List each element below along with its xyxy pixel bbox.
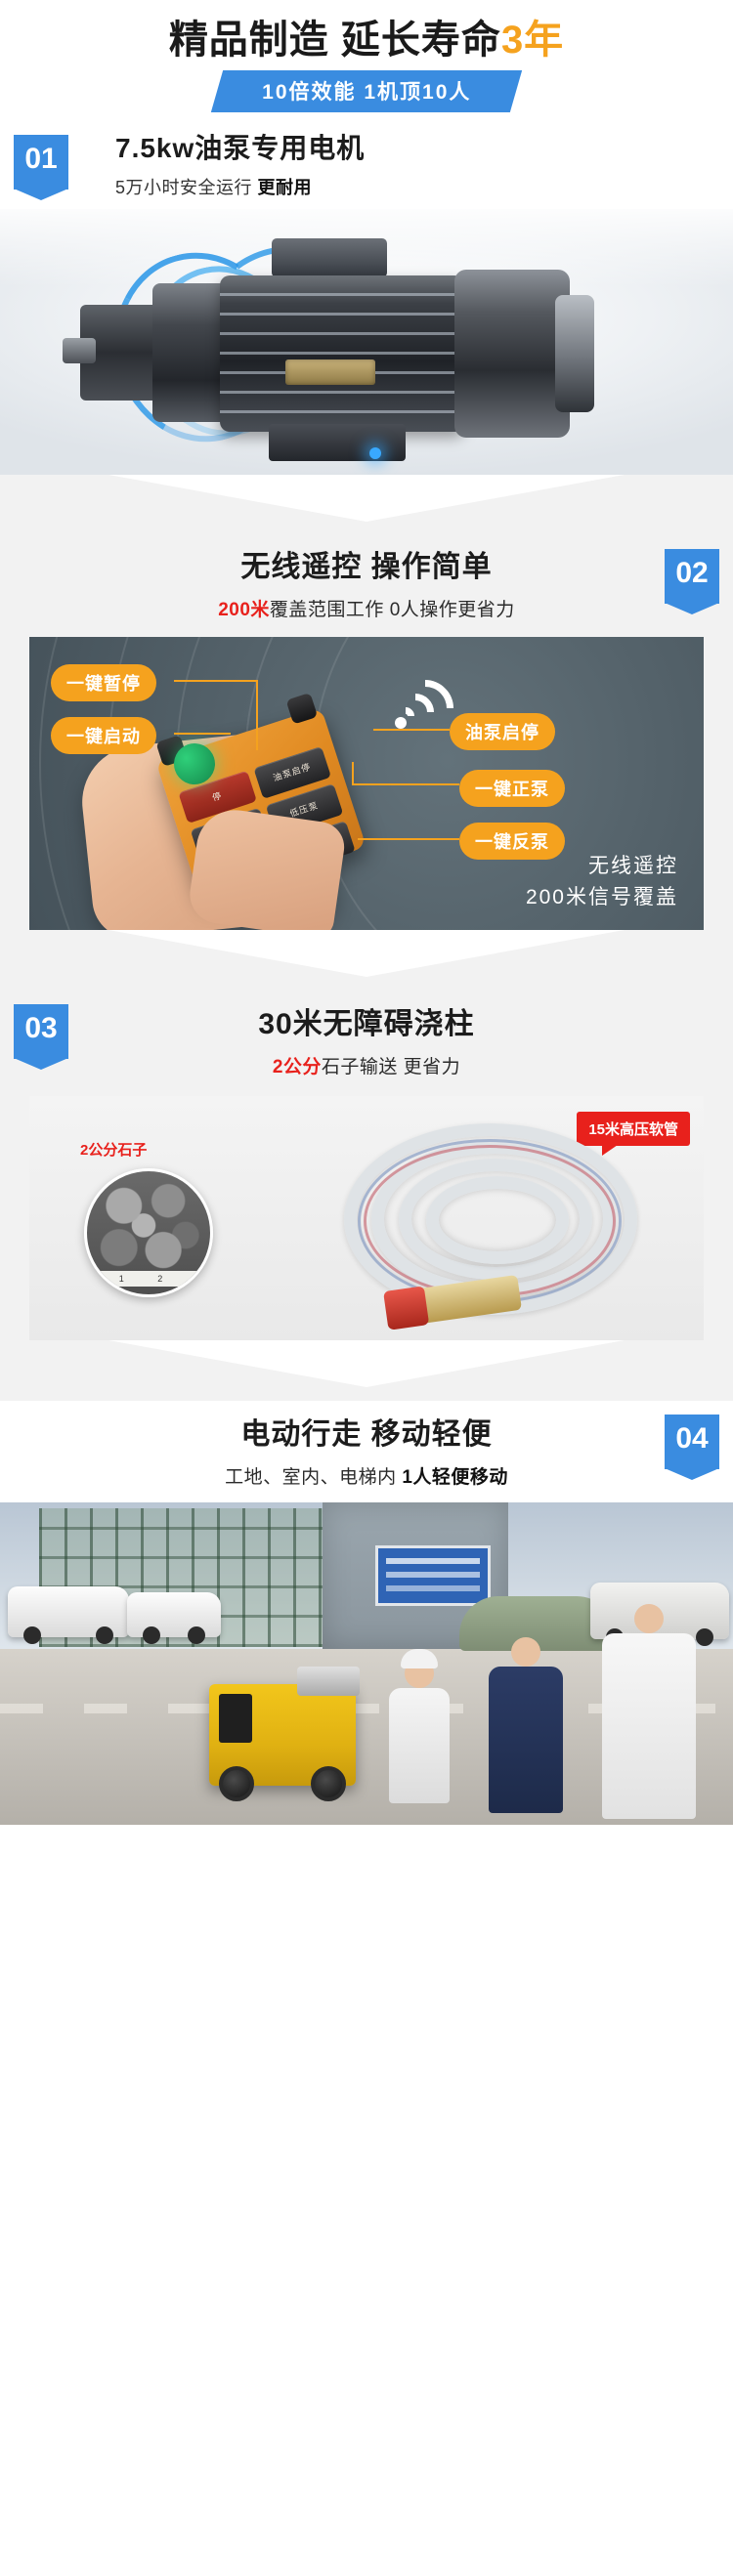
motor-frame bbox=[220, 275, 464, 432]
hand-thumb-illustration bbox=[187, 805, 348, 930]
parked-car bbox=[8, 1586, 129, 1637]
section-01: 01 7.5kw油泵专用电机 5万小时安全运行 更耐用 bbox=[0, 119, 733, 475]
remote-control-photo: 停 油泵启停 高压泵 低压泵 备用 备用 一键暂停 一键启动 油泵启停 一键正泵 bbox=[29, 637, 704, 930]
section-03-header: 03 30米无障碍浇柱 2公分石子输送 更省力 bbox=[0, 991, 733, 1096]
section-02-header: 02 无线遥控 操作简单 200米覆盖范围工作 0人操作更省力 bbox=[0, 535, 733, 637]
worksite-photo bbox=[0, 1502, 733, 1825]
callout-leader-line bbox=[174, 680, 258, 682]
section-04-subtitle: 工地、室内、电梯内 1人轻便移动 bbox=[0, 1462, 733, 1489]
remote-caption: 无线遥控 200米信号覆盖 bbox=[526, 851, 678, 912]
section-01-subtitle: 5万小时安全运行 更耐用 bbox=[115, 174, 365, 199]
section-02-headings: 无线遥控 操作简单 200米覆盖范围工作 0人操作更省力 bbox=[0, 549, 733, 621]
machine-wheel bbox=[311, 1766, 346, 1801]
hero-subtitle-banner: 10倍效能 1机顶10人 bbox=[211, 70, 523, 112]
section-04-title: 电动行走 移动轻便 bbox=[0, 1416, 733, 1454]
page-title-accent: 3年 bbox=[501, 19, 564, 62]
remote-caption-line1: 无线遥控 bbox=[526, 851, 678, 882]
worker-figure bbox=[389, 1659, 450, 1803]
section-02: 02 无线遥控 操作简单 200米覆盖范围工作 0人操作更省力 bbox=[0, 535, 733, 930]
chevron-divider-down-icon bbox=[0, 930, 733, 991]
section-04: 04 电动行走 移动轻便 工地、室内、电梯内 1人轻便移动 bbox=[0, 1401, 733, 1825]
stone-size-label: 2公分石子 bbox=[80, 1139, 147, 1160]
section-04-subtitle-plain: 工地、室内、电梯内 bbox=[225, 1467, 402, 1488]
worker-body bbox=[389, 1688, 450, 1803]
chevron-divider-down-icon bbox=[0, 1340, 733, 1401]
section-03: 03 30米无障碍浇柱 2公分石子输送 更省力 15米高压软管 2公分石子 1 … bbox=[0, 991, 733, 1340]
motor-endbell-right bbox=[454, 270, 570, 438]
callout-pump-toggle: 油泵启停 bbox=[450, 713, 555, 750]
section-02-badge: 02 bbox=[665, 549, 719, 604]
section-02-title: 无线遥控 操作简单 bbox=[0, 549, 733, 586]
motor-fan-cover bbox=[555, 295, 594, 412]
section-01-subtitle-plain: 5万小时安全运行 bbox=[115, 178, 258, 197]
hero-subtitle-text: 10倍效能 1机顶10人 bbox=[262, 76, 471, 106]
page-title: 精品制造 延长寿命3年 bbox=[0, 18, 733, 63]
section-03-title: 30米无障碍浇柱 bbox=[0, 1006, 733, 1043]
section-01-title: 7.5kw油泵专用电机 bbox=[115, 131, 365, 165]
motor-shaft bbox=[63, 338, 96, 363]
site-signboard bbox=[375, 1545, 491, 1606]
worker-body bbox=[489, 1667, 563, 1813]
section-04-badge: 04 bbox=[665, 1415, 719, 1469]
callout-leader-line bbox=[174, 733, 231, 735]
chevron-divider-down-icon bbox=[0, 475, 733, 535]
page-title-main: 精品制造 延长寿命 bbox=[169, 19, 501, 62]
worker-figure bbox=[489, 1637, 563, 1813]
section-02-subtitle-plain: 覆盖范围工作 0人操作更省力 bbox=[270, 600, 515, 620]
callout-leader-line bbox=[373, 729, 450, 731]
hero-band-wrap: 10倍效能 1机顶10人 bbox=[0, 70, 733, 112]
callout-leader-line bbox=[352, 783, 459, 785]
callout-pause: 一键暂停 bbox=[51, 664, 156, 701]
section-04-headings: 电动行走 移动轻便 工地、室内、电梯内 1人轻便移动 bbox=[0, 1416, 733, 1489]
motor-illustration bbox=[59, 266, 674, 446]
callout-leader-line bbox=[256, 680, 258, 750]
worker-head bbox=[634, 1604, 664, 1633]
section-03-subtitle: 2公分石子输送 更省力 bbox=[0, 1052, 733, 1078]
worker-figure bbox=[602, 1604, 696, 1819]
callout-leader-line bbox=[358, 838, 459, 840]
motor-cooling-fins bbox=[220, 275, 464, 432]
section-01-header: 01 7.5kw油泵专用电机 5万小时安全运行 更耐用 bbox=[0, 119, 733, 209]
parked-car bbox=[127, 1592, 221, 1637]
ruler-scale: 1 2 bbox=[87, 1271, 210, 1287]
worker-head bbox=[511, 1637, 540, 1667]
high-pressure-hose-coil bbox=[324, 1118, 676, 1323]
worker-body bbox=[602, 1633, 696, 1819]
motor-photo bbox=[0, 209, 733, 475]
section-02-subtitle-accent: 200米 bbox=[218, 600, 270, 620]
section-01-subtitle-bold: 更耐用 bbox=[258, 178, 313, 197]
section-03-badge: 03 bbox=[14, 1004, 68, 1059]
hero-header: 精品制造 延长寿命3年 10倍效能 1机顶10人 bbox=[0, 0, 733, 119]
hose-stripe-red bbox=[364, 1145, 616, 1297]
gravel-sample-photo: 1 2 bbox=[84, 1168, 213, 1297]
motor-junction-box bbox=[272, 238, 387, 277]
concrete-pump-machine bbox=[209, 1684, 356, 1786]
callout-forward: 一键正泵 bbox=[459, 770, 565, 807]
machine-wheel bbox=[219, 1766, 254, 1801]
callout-start: 一键启动 bbox=[51, 717, 156, 754]
section-04-subtitle-bold: 1人轻便移动 bbox=[402, 1467, 508, 1488]
motor-nameplate bbox=[285, 359, 375, 385]
product-detail-page: 精品制造 延长寿命3年 10倍效能 1机顶10人 01 7.5kw油泵专用电机 … bbox=[0, 0, 733, 2576]
motor-base-foot bbox=[269, 424, 406, 461]
section-03-subtitle-plain: 石子输送 更省力 bbox=[322, 1057, 460, 1077]
hose-photo: 15米高压软管 2公分石子 1 2 bbox=[29, 1096, 704, 1340]
indicator-light-icon bbox=[369, 447, 381, 459]
section-03-subtitle-accent: 2公分 bbox=[273, 1057, 322, 1077]
remote-caption-line2: 200米信号覆盖 bbox=[526, 882, 678, 913]
section-03-headings: 30米无障碍浇柱 2公分石子输送 更省力 bbox=[0, 1006, 733, 1078]
section-02-subtitle: 200米覆盖范围工作 0人操作更省力 bbox=[0, 595, 733, 621]
wifi-signal-icon bbox=[391, 674, 459, 729]
section-01-headings: 7.5kw油泵专用电机 5万小时安全运行 更耐用 bbox=[115, 131, 365, 199]
callout-leader-line bbox=[352, 762, 354, 785]
section-01-badge: 01 bbox=[14, 135, 68, 190]
section-04-header: 04 电动行走 移动轻便 工地、室内、电梯内 1人轻便移动 bbox=[0, 1401, 733, 1502]
